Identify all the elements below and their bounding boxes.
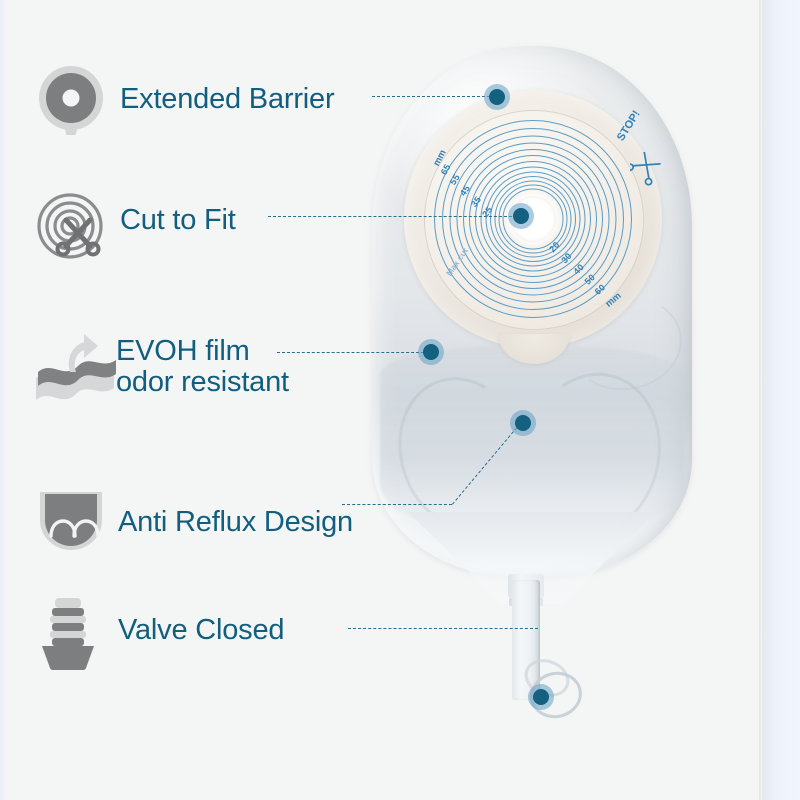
feature-cut-to-fit[interactable]: Cut to Fit <box>36 186 236 256</box>
ring-unit-bottom: mm <box>603 290 623 309</box>
leader-line-extended-barrier <box>372 96 490 97</box>
scissors-rings-icon <box>36 186 106 256</box>
feature-valve-closed[interactable]: Valve Closed <box>34 596 284 666</box>
feature-label-extended-barrier: Extended Barrier <box>120 84 334 115</box>
callout-dot-valve-closed[interactable] <box>528 684 554 710</box>
leader-line-cut-to-fit <box>268 216 522 217</box>
feature-evoh-film[interactable]: EVOH film odor resistant <box>32 332 289 402</box>
film-sheet-icon <box>32 332 102 402</box>
feature-label-anti-reflux-design: Anti Reflux Design <box>118 507 353 538</box>
leader-line-anti-reflux-horizontal <box>342 504 452 505</box>
callout-dot-evoh-film[interactable] <box>418 339 444 365</box>
right-edge-panel <box>762 0 800 800</box>
stop-label: STOP! <box>615 108 643 143</box>
feature-extended-barrier[interactable]: Extended Barrier <box>36 65 334 135</box>
callout-dot-extended-barrier[interactable] <box>484 84 510 110</box>
ostomy-pouch-image: mm 65 55 45 35 25 20 30 40 50 60 mm Max … <box>372 46 692 606</box>
leader-line-evoh-film <box>277 352 429 353</box>
feature-label-cut-to-fit: Cut to Fit <box>120 205 236 236</box>
barrier-disc-icon <box>36 65 106 135</box>
left-edge-strip <box>0 0 7 800</box>
anti-reflux-icon <box>34 488 104 558</box>
feature-anti-reflux-design[interactable]: Anti Reflux Design <box>34 488 353 558</box>
scissors-icon <box>630 152 664 191</box>
product-feature-diagram: mm 65 55 45 35 25 20 30 40 50 60 mm Max … <box>0 0 800 800</box>
valve-icon <box>34 596 104 666</box>
feature-label-valve-closed: Valve Closed <box>118 615 284 646</box>
leader-line-valve-closed <box>348 628 538 629</box>
feature-label-evoh-film: EVOH film odor resistant <box>116 336 289 399</box>
callout-dot-cut-to-fit[interactable] <box>508 203 534 229</box>
callout-dot-anti-reflux[interactable] <box>510 410 536 436</box>
